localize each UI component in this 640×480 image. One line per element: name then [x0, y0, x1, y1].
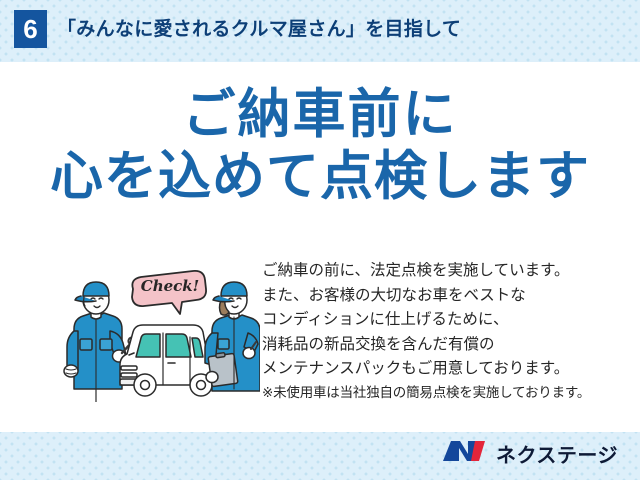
page-title-line-1: ご納車前に	[0, 84, 640, 146]
body-line: コンディションに仕上げるために、	[262, 307, 634, 332]
nextage-n-mark-icon	[441, 439, 487, 468]
header: 6 「みんなに愛されるクルマ屋さん」を目指して	[0, 0, 640, 60]
body-line: ご納車の前に、法定点検を実施しています。	[262, 258, 634, 283]
body-line: また、お客様の大切なお車をベストな	[262, 283, 634, 308]
slide-root: 6 「みんなに愛されるクルマ屋さん」を目指して ご納車前に 心を込めて点検します…	[0, 0, 640, 480]
body-note: ※未使用車は当社独自の簡易点検を実施しております。	[262, 381, 634, 406]
body-line: 消耗品の新品交換を含んだ有償の	[262, 332, 634, 357]
content-panel: ご納車前に 心を込めて点検します ご納車の前に、法定点検を実施しています。 また…	[0, 62, 640, 432]
right-mechanic-figure	[205, 282, 260, 391]
body-line: メンテナンスパックもご用意しております。	[262, 356, 634, 381]
section-number-badge: 6	[14, 10, 47, 48]
body-copy: ご納車の前に、法定点検を実施しています。 また、お客様の大切なお車をベストな コ…	[262, 258, 634, 405]
mechanics-illustration: Check!	[60, 267, 260, 402]
brand-logo: ネクステージ	[441, 439, 618, 468]
white-van	[120, 325, 214, 396]
speech-bubble-label: Check!	[141, 277, 200, 295]
page-title: ご納車前に 心を込めて点検します	[0, 84, 640, 208]
page-title-line-2: 心を込めて点検します	[0, 146, 640, 208]
header-title: 「みんなに愛されるクルマ屋さん」を目指して	[57, 14, 461, 41]
brand-name: ネクステージ	[496, 439, 618, 468]
